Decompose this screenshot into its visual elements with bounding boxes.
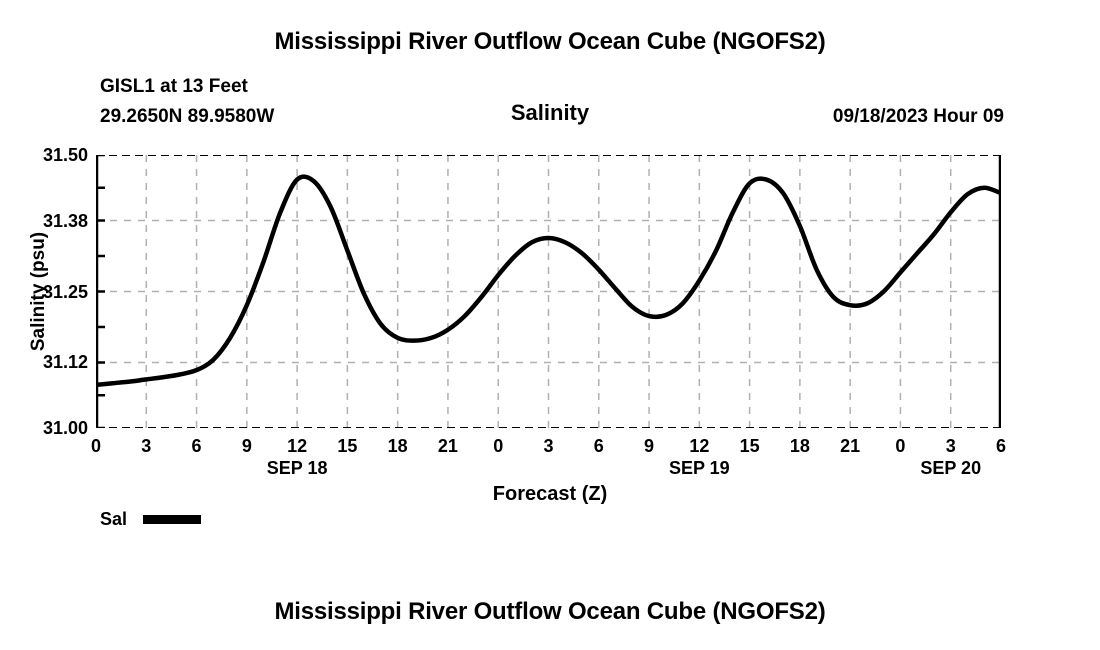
x-tick-label: 0 (880, 437, 920, 455)
x-tick-label: 6 (579, 437, 619, 455)
y-tick-label: 31.50 (10, 146, 88, 164)
x-axis-day-label: SEP 18 (227, 459, 367, 477)
x-tick-label: 0 (76, 437, 116, 455)
x-tick-label: 21 (428, 437, 468, 455)
chart-page: Mississippi River Outflow Ocean Cube (NG… (0, 0, 1100, 650)
x-tick-label: 15 (730, 437, 770, 455)
plot-area (96, 155, 1001, 428)
y-tick-label: 31.12 (10, 353, 88, 371)
legend-swatch-sal (143, 515, 201, 524)
salinity-line-chart (96, 155, 1001, 428)
y-axis-tick-labels: 31.0031.1231.2531.3831.50 (0, 0, 88, 650)
x-tick-label: 12 (679, 437, 719, 455)
legend: Sal (100, 510, 201, 528)
y-tick-label: 31.38 (10, 212, 88, 230)
legend-label-sal: Sal (100, 510, 127, 528)
x-axis-day-label: SEP 19 (629, 459, 769, 477)
x-tick-label: 6 (981, 437, 1021, 455)
x-tick-label: 0 (478, 437, 518, 455)
forecast-timestamp: 09/18/2023 Hour 09 (833, 106, 1004, 128)
station-label: GISL1 at 13 Feet (100, 76, 248, 98)
x-tick-label: 9 (227, 437, 267, 455)
y-tick-label: 31.25 (10, 283, 88, 301)
x-tick-label: 9 (629, 437, 669, 455)
x-tick-label: 3 (529, 437, 569, 455)
x-tick-label: 3 (126, 437, 166, 455)
x-tick-label: 21 (830, 437, 870, 455)
x-tick-label: 6 (177, 437, 217, 455)
footer-title: Mississippi River Outflow Ocean Cube (NG… (0, 598, 1100, 626)
x-tick-label: 3 (931, 437, 971, 455)
y-tick-label: 31.00 (10, 419, 88, 437)
x-tick-label: 18 (780, 437, 820, 455)
x-tick-label: 18 (378, 437, 418, 455)
page-title: Mississippi River Outflow Ocean Cube (NG… (0, 28, 1100, 56)
x-axis-title: Forecast (Z) (0, 483, 1100, 506)
x-axis-day-label: SEP 20 (881, 459, 1021, 477)
x-tick-label: 12 (277, 437, 317, 455)
x-tick-label: 15 (327, 437, 367, 455)
